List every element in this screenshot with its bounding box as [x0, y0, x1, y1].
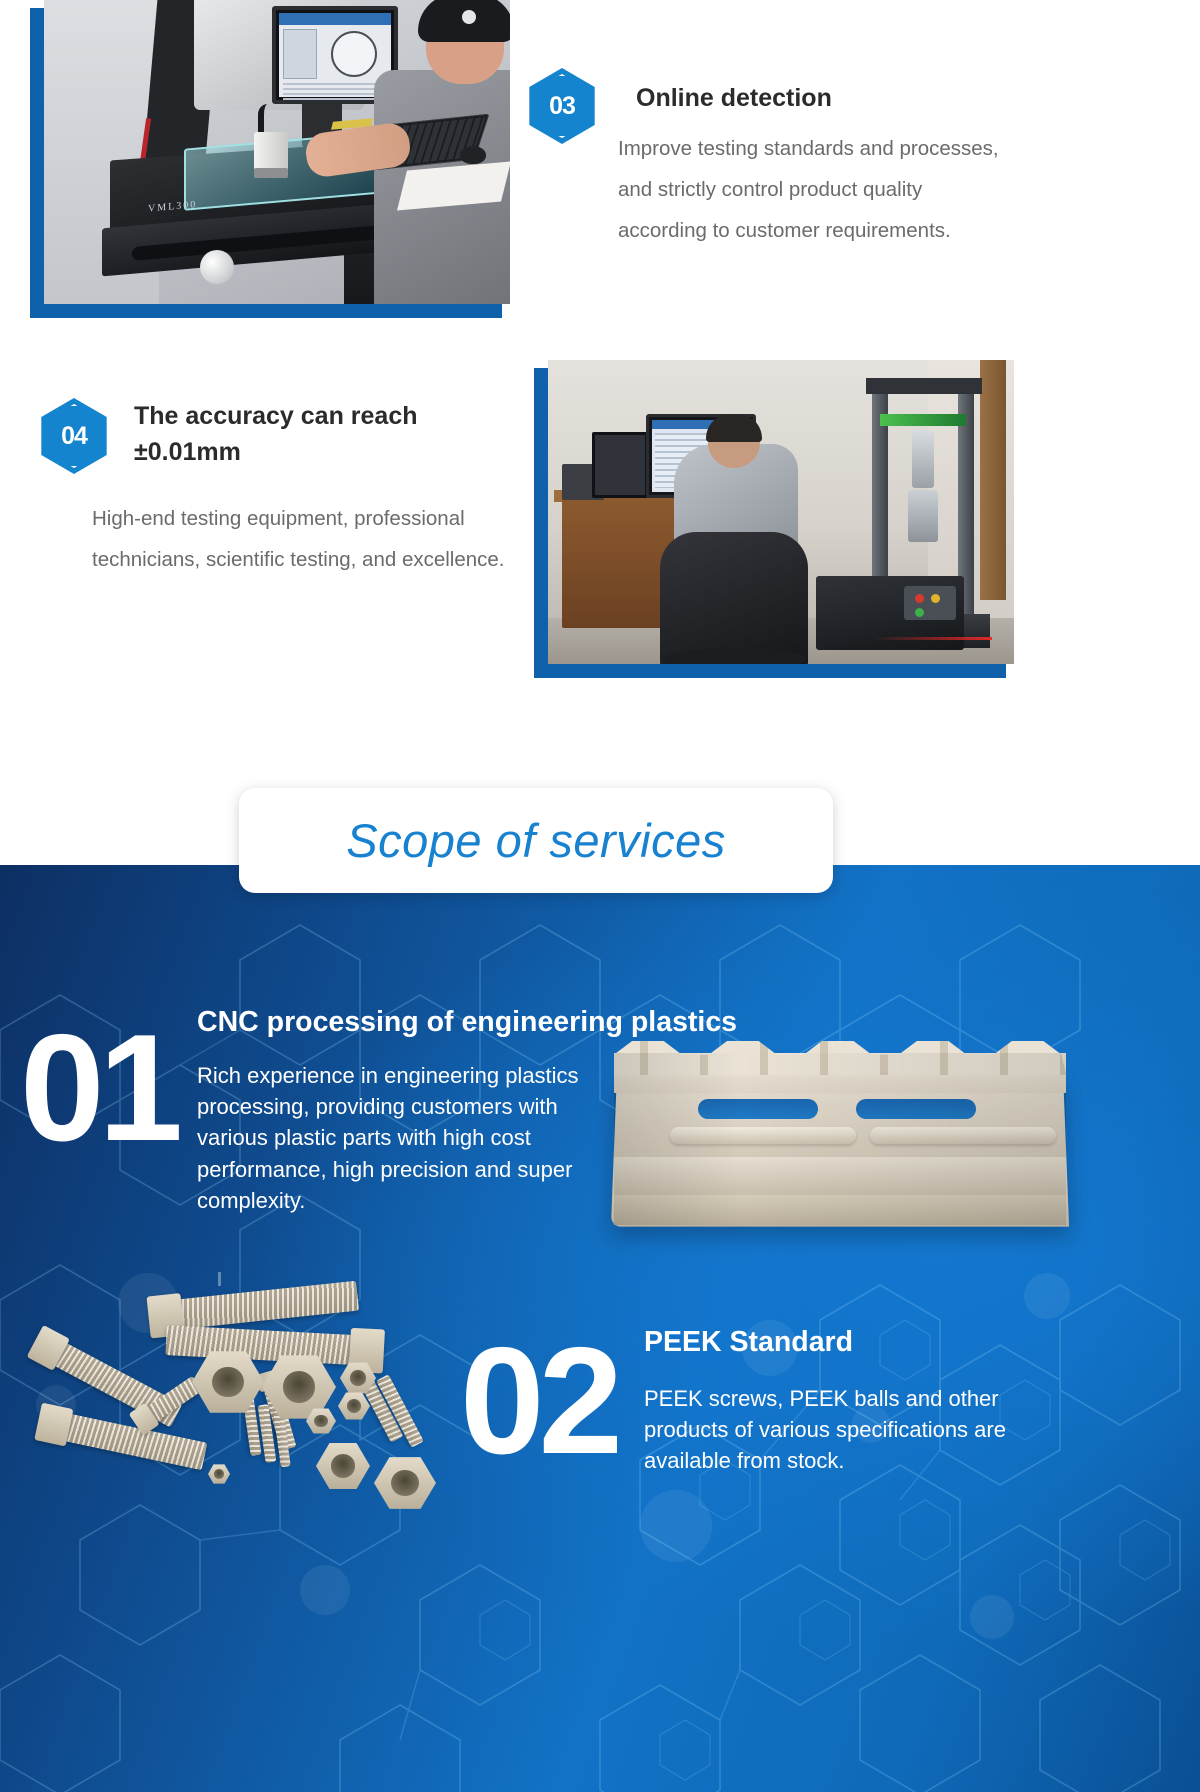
- accuracy-testing-photo: [534, 368, 1006, 678]
- peek-machined-part-photo: [614, 1035, 1066, 1270]
- feature-block-04: The accuracy can reach ±0.01mm High-end …: [134, 398, 514, 471]
- feature-body: High-end testing equipment, professional…: [92, 498, 522, 580]
- hexagon-badge-icon-03: 03: [524, 68, 600, 144]
- top-white-section: VML300 03 Online detection Improve testi…: [0, 0, 1200, 865]
- photo-content: VML300: [44, 0, 510, 304]
- item-body-01: Rich experience in engineering plastics …: [197, 1060, 602, 1216]
- item-number-02: 02: [460, 1325, 617, 1477]
- feature-block-03: Online detection Improve testing standar…: [636, 80, 1016, 116]
- badge-number: 03: [524, 68, 600, 144]
- item-title-02: PEEK Standard: [644, 1326, 853, 1359]
- photo-content: [548, 360, 1014, 664]
- page-title: Scope of services: [346, 813, 725, 868]
- item-number-01: 01: [20, 1012, 177, 1164]
- feature-title: Online detection: [636, 80, 1016, 116]
- peek-fasteners-photo: [40, 1268, 470, 1568]
- badge-number: 04: [36, 398, 112, 474]
- scope-banner-card: Scope of services: [239, 788, 833, 893]
- hexagon-badge-icon-04: 04: [36, 398, 112, 474]
- item-body-02: PEEK screws, PEEK balls and other produc…: [644, 1383, 1044, 1477]
- feature-body: Improve testing standards and processes,…: [618, 128, 1008, 251]
- online-detection-photo: VML300: [30, 8, 502, 318]
- feature-title: The accuracy can reach ±0.01mm: [134, 398, 514, 471]
